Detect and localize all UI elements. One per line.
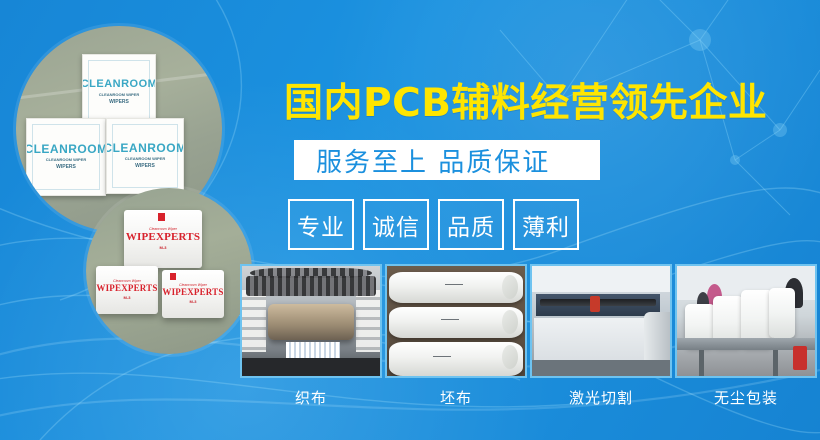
process-item-laser-cutting[interactable]: 激光切割 (530, 264, 672, 408)
pack-fineprint: CLEANROOM WIPER (125, 156, 165, 161)
cube-model-text: M-3 (124, 295, 131, 300)
cube-wipexperts-left: Cleanroom Wiper WIPEXPERTS M-3 (96, 266, 158, 314)
banner-subtitle-text: 服务至上 品质保证 (316, 142, 550, 179)
thumbnail-caption: 激光切割 (530, 387, 672, 408)
thumbnail-greige-fabric[interactable] (385, 264, 527, 378)
keyword-label: 专业 (297, 208, 345, 242)
keyword-box-zhuanye[interactable]: 专业 (288, 199, 354, 250)
thumbnail-weaving[interactable] (240, 264, 382, 378)
packing-room-image (677, 266, 815, 376)
pack-brand-text: CLEANROOM (82, 79, 156, 90)
thumbnail-caption: 织布 (240, 387, 382, 408)
keyword-box-baoli[interactable]: 薄利 (513, 199, 579, 250)
promo-banner: CLEANROOM CLEANROOM WIPER WIPERS CLEANRO… (0, 0, 820, 440)
banner-subtitle-bar: 服务至上 品质保证 (294, 140, 600, 180)
keyword-box-row: 专业 诚信 品质 薄利 (288, 199, 579, 250)
banner-headline: 国内PCB辅料经营领先企业 (284, 72, 767, 128)
product-photo-wipexperts: Cleanroom Wiper WIPEXPERTS M-3 Cleanroom… (86, 188, 252, 354)
process-thumbnail-row: 织布 坯布 (240, 264, 817, 408)
wipexperts-photo-scene: Cleanroom Wiper WIPEXPERTS M-3 Cleanroom… (86, 188, 252, 354)
process-item-weaving[interactable]: 织布 (240, 264, 382, 408)
cube-brand-text: WIPEXPERTS (96, 284, 157, 293)
process-item-cleanroom-packing[interactable]: 无尘包装 (675, 264, 817, 408)
process-item-greige-fabric[interactable]: 坯布 (385, 264, 527, 408)
laser-cutter-image (532, 266, 670, 376)
cube-wipexperts-top: Cleanroom Wiper WIPEXPERTS M-3 (124, 210, 202, 268)
pack-cleanroom-left: CLEANROOM CLEANROOM WIPER WIPERS (26, 118, 106, 196)
thumbnail-caption: 坯布 (385, 387, 527, 408)
pack-cleanroom-right: CLEANROOM CLEANROOM WIPER WIPERS (106, 118, 184, 194)
cube-model-text: M-3 (160, 245, 167, 250)
fabric-rolls-image (387, 266, 525, 376)
cube-model-text: M-3 (190, 299, 197, 304)
keyword-box-chengxin[interactable]: 诚信 (363, 199, 429, 250)
pack-brand-text: CLEANROOM (26, 143, 106, 155)
knitting-machine-image (242, 266, 380, 376)
keyword-label: 诚信 (372, 208, 420, 242)
keyword-label: 品质 (447, 208, 495, 242)
pack-fineprint: CLEANROOM WIPER (46, 157, 86, 162)
thumbnail-laser-cutting[interactable] (530, 264, 672, 378)
thumbnail-cleanroom-packing[interactable] (675, 264, 817, 378)
pack-fineprint: CLEANROOM WIPER (99, 92, 139, 97)
keyword-box-pinzhi[interactable]: 品质 (438, 199, 504, 250)
keyword-label: 薄利 (522, 208, 570, 242)
pack-brand-text: CLEANROOM (106, 142, 184, 154)
pack-wipers-text: WIPERS (109, 99, 129, 105)
thumbnail-caption: 无尘包装 (675, 387, 817, 408)
cube-wipexperts-right: Cleanroom Wiper WIPEXPERTS M-3 (162, 270, 224, 318)
cube-brand-text: WIPEXPERTS (162, 288, 223, 297)
pack-wipers-text: WIPERS (135, 163, 155, 169)
pack-wipers-text: WIPERS (56, 164, 76, 170)
cube-brand-text: WIPEXPERTS (126, 232, 200, 243)
